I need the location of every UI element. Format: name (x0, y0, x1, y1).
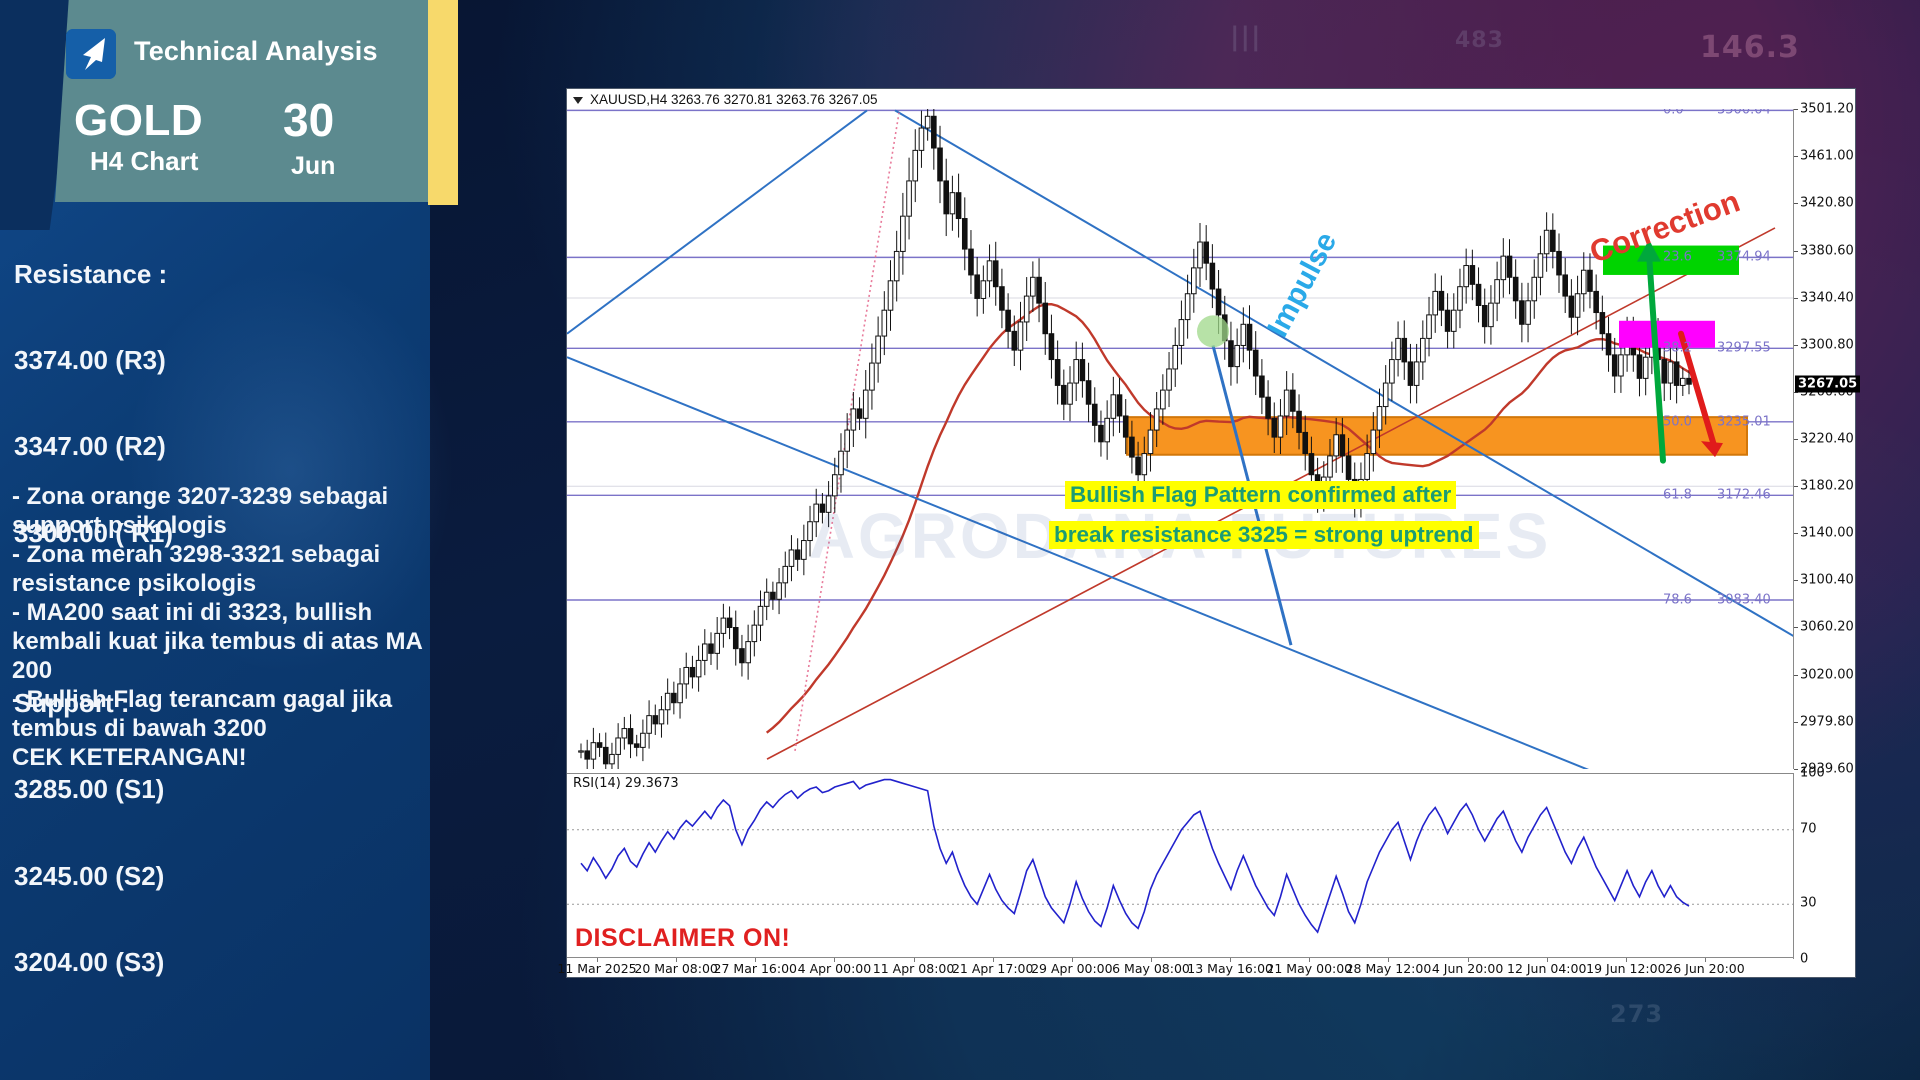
resistance-heading: Resistance : (14, 260, 426, 289)
time-axis-label: 26 Jun 20:00 (1665, 961, 1744, 976)
chart-titlebar: XAUUSD,H4 3263.76 3270.81 3263.76 3267.0… (567, 89, 1855, 109)
price-axis-tick (1794, 486, 1798, 487)
time-axis-label: 27 Mar 16:00 (714, 961, 797, 976)
price-axis-tick (1794, 109, 1798, 110)
time-axis-label: 11 Mar 2025 (557, 961, 636, 976)
time-axis-tick (1309, 958, 1310, 962)
fib-level-label: 38.2 (1663, 341, 1692, 356)
note-item: CEK KETERANGAN! (12, 743, 428, 772)
background-ghost-text: 273 (1610, 1000, 1663, 1028)
time-axis-tick (1626, 958, 1627, 962)
price-axis-label: 3220.40 (1800, 432, 1854, 447)
price-axis-label: 3180.20 (1800, 479, 1854, 494)
time-axis-tick (1151, 958, 1152, 962)
arrow-logo-icon (66, 29, 116, 79)
time-axis-label: 20 Mar 08:00 (634, 961, 717, 976)
fib-price-label: 3235.01 (1717, 414, 1771, 429)
fib-level-label: 50.0 (1663, 414, 1692, 429)
note-item: - Zona orange 3207-3239 sebagai support … (12, 482, 428, 540)
price-axis-tick (1794, 769, 1798, 770)
date-day: 30 (283, 93, 334, 147)
time-axis-tick (676, 958, 677, 962)
price-axis-tick (1794, 627, 1798, 628)
rsi-axis-label: 30 (1800, 896, 1817, 911)
price-pane[interactable]: AGRODANA FUTURES Impulse Correction Impu… (567, 109, 1793, 769)
rsi-axis-label: 0 (1800, 952, 1808, 967)
price-axis[interactable]: 3501.203461.003420.803380.603340.403300.… (1793, 109, 1855, 769)
fib-level-label: 61.8 (1663, 488, 1692, 503)
support-s2: 3245.00 (S2) (14, 862, 426, 891)
price-axis-label: 3060.20 (1800, 620, 1854, 635)
background-ghost-price: 146.3 (1700, 30, 1800, 65)
fib-level-label: 0.0 (1663, 109, 1684, 118)
time-axis-tick (1547, 958, 1548, 962)
time-axis-tick (1072, 958, 1073, 962)
price-axis-label: 3380.60 (1800, 243, 1854, 258)
price-axis-tick (1794, 580, 1798, 581)
notes-panel: - Zona orange 3207-3239 sebagai support … (12, 482, 428, 772)
callout-line-1: Bullish Flag Pattern confirmed after (1065, 481, 1456, 509)
time-axis-tick (1230, 958, 1231, 962)
time-axis-tick (1388, 958, 1389, 962)
time-axis-tick (993, 958, 994, 962)
note-item: - MA200 saat ini di 3323, bullish kembal… (12, 598, 428, 685)
page-title: Technical Analysis (134, 36, 378, 67)
date-month: Jun (291, 152, 335, 181)
fib-level-label: 78.6 (1663, 593, 1692, 608)
time-axis-label: 19 Jun 12:00 (1586, 961, 1665, 976)
time-axis-label: 13 May 16:00 (1187, 961, 1273, 976)
rsi-indicator-label: RSI(14) 29.3673 (573, 776, 679, 791)
price-axis-label: 3100.40 (1800, 573, 1854, 588)
price-axis-tick (1794, 345, 1798, 346)
rsi-axis-label: 100 (1800, 766, 1825, 781)
symbol-quote-line: XAUUSD,H4 3263.76 3270.81 3263.76 3267.0… (590, 92, 877, 107)
time-axis-label: 29 Apr 00:00 (1031, 961, 1113, 976)
price-axis-tick (1794, 156, 1798, 157)
price-axis-label: 3340.40 (1800, 290, 1854, 305)
price-axis-label: 3501.20 (1800, 102, 1854, 117)
price-axis-label: 3420.80 (1800, 196, 1854, 211)
time-axis-tick (1468, 958, 1469, 962)
fib-price-label: 3500.04 (1717, 109, 1771, 118)
price-axis-tick (1794, 203, 1798, 204)
price-axis-label: 3300.80 (1800, 337, 1854, 352)
time-axis-label: 21 May 00:00 (1266, 961, 1352, 976)
time-axis-label: 28 May 12:00 (1346, 961, 1432, 976)
price-axis-tick (1794, 533, 1798, 534)
price-axis-label: 3140.00 (1800, 526, 1854, 541)
disclaimer-text: DISCLAIMER ON! (575, 924, 790, 953)
chevron-down-icon[interactable] (573, 97, 583, 104)
screenshot-root: ||| 483 146.3 273 Technical Analysis GOL… (0, 0, 1920, 1080)
rsi-axis-label: 70 (1800, 821, 1817, 836)
background-ghost-text: 483 (1455, 28, 1504, 53)
chart-window: XAUUSD,H4 3263.76 3270.81 3263.76 3267.0… (566, 88, 1856, 978)
support-s3: 3204.00 (S3) (14, 948, 426, 977)
note-item: - Bullish Flag terancam gagal jika tembu… (12, 685, 428, 743)
time-axis-label: 12 Jun 04:00 (1507, 961, 1586, 976)
time-axis-label: 4 Jun 20:00 (1432, 961, 1503, 976)
price-axis-tick (1794, 251, 1798, 252)
timeframe-label: H4 Chart (90, 146, 198, 177)
time-axis-label: 21 Apr 17:00 (952, 961, 1034, 976)
time-axis-tick (914, 958, 915, 962)
price-axis-tick (1794, 298, 1798, 299)
fib-price-label: 3374.94 (1717, 250, 1771, 265)
instrument-name: GOLD (74, 96, 203, 146)
price-axis-tick (1794, 439, 1798, 440)
rsi-axis[interactable]: 10070300 (1793, 773, 1855, 959)
fib-price-label: 3083.40 (1717, 593, 1771, 608)
time-axis-tick (755, 958, 756, 962)
time-axis-tick (834, 958, 835, 962)
support-s1: 3285.00 (S1) (14, 775, 426, 804)
background-ghost-text: ||| (1230, 22, 1262, 52)
fib-level-label: 23.6 (1663, 250, 1692, 265)
price-axis-tick (1794, 722, 1798, 723)
time-axis[interactable]: 11 Mar 202520 Mar 08:0027 Mar 16:004 Apr… (567, 957, 1793, 977)
callout-line-2: break resistance 3325 = strong uptrend (1049, 521, 1479, 549)
accent-bar (428, 0, 458, 205)
price-axis-label: 2979.80 (1800, 714, 1854, 729)
time-axis-label: 6 May 08:00 (1112, 961, 1190, 976)
resistance-r2: 3347.00 (R2) (14, 432, 426, 461)
resistance-r3: 3374.00 (R3) (14, 346, 426, 375)
price-chart-svg (567, 109, 1793, 769)
note-item: - Zona merah 3298-3321 sebagai resistanc… (12, 540, 428, 598)
time-axis-label: 4 Apr 00:00 (798, 961, 872, 976)
time-axis-label: 11 Apr 08:00 (873, 961, 955, 976)
time-axis-tick (1705, 958, 1706, 962)
price-axis-label: 3020.00 (1800, 667, 1854, 682)
price-axis-tick (1794, 675, 1798, 676)
time-axis-tick (597, 958, 598, 962)
fib-price-label: 3172.46 (1717, 488, 1771, 503)
current-price-tag: 3267.05 (1795, 376, 1860, 393)
price-axis-label: 3461.00 (1800, 149, 1854, 164)
fib-price-label: 3297.55 (1717, 341, 1771, 356)
